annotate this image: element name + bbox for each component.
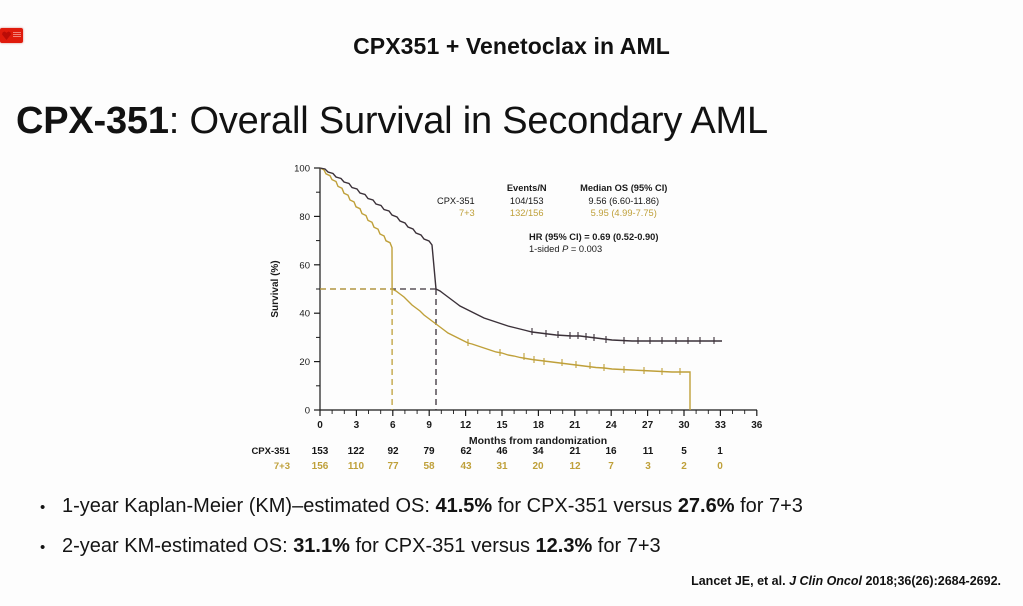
bullet-text-1: 1-year Kaplan-Meier (KM)–estimated OS: 4… <box>62 494 803 518</box>
risk-cell: 58 <box>417 461 441 472</box>
citation-journal: J Clin Oncol <box>789 574 862 588</box>
svg-text:15: 15 <box>496 420 508 431</box>
risk-cell: 5 <box>672 446 696 457</box>
p-value-number: = 0.003 <box>568 244 602 254</box>
bullet-2-pre: 2-year KM-estimated OS: <box>62 535 293 557</box>
risk-cell: 1 <box>708 446 732 457</box>
bullet-1-value-cpx: 41.5% <box>435 495 492 517</box>
page-title-rest: : Overall Survival in Secondary AML <box>169 100 768 142</box>
legend-header-median: Median OS (95% CI) <box>565 182 683 195</box>
risk-cell: 43 <box>454 461 478 472</box>
legend-stats: HR (95% CI) = 0.69 (0.52-0.90) 1-sided P… <box>529 231 737 255</box>
svg-text:80: 80 <box>299 212 310 223</box>
bullet-item-1: • 1-year Kaplan-Meier (KM)–estimated OS:… <box>40 494 990 518</box>
hazard-ratio-text: HR (95% CI) = 0.69 (0.52-0.90) <box>529 232 658 242</box>
risk-cell: 7 <box>599 461 623 472</box>
risk-cell: 110 <box>344 461 368 472</box>
svg-text:3: 3 <box>354 420 360 431</box>
svg-text:60: 60 <box>299 260 310 271</box>
svg-text:100: 100 <box>294 164 310 175</box>
legend-row-seven-three: 7+3 132/156 5.95 (4.99-7.75) <box>437 207 683 219</box>
risk-cell: 0 <box>708 461 732 472</box>
censor-marks-seven-three <box>468 339 680 375</box>
svg-text:9: 9 <box>426 420 432 431</box>
bullet-1-post: for 7+3 <box>735 495 803 517</box>
risk-cell: 34 <box>526 446 550 457</box>
legend-header-events: Events/N <box>489 182 565 195</box>
deck-header-title: CPX351 + Venetoclax in AML <box>0 33 1023 60</box>
svg-text:30: 30 <box>678 420 690 431</box>
y-axis-tick-labels: 0 20 40 60 80 100 <box>294 164 310 417</box>
x-axis-major-ticks <box>320 410 757 416</box>
svg-text:24: 24 <box>606 420 618 431</box>
risk-cell: 156 <box>308 461 332 472</box>
svg-text:6: 6 <box>390 420 396 431</box>
risk-row-seven-three: 7+3 156 110 77 58 43 31 20 12 7 3 2 0 <box>232 461 772 476</box>
risk-cell: 21 <box>563 446 587 457</box>
numbers-at-risk-table: CPX-351 153 122 92 79 62 46 34 21 16 11 … <box>232 446 772 476</box>
bullet-1-pre: 1-year Kaplan-Meier (KM)–estimated OS: <box>62 495 435 517</box>
page-title: CPX-351: Overall Survival in Secondary A… <box>16 100 768 143</box>
risk-cell: 11 <box>636 446 660 457</box>
risk-row-cpx351: CPX-351 153 122 92 79 62 46 34 21 16 11 … <box>232 446 772 461</box>
bullet-2-post: for 7+3 <box>592 535 660 557</box>
risk-cell: 46 <box>490 446 514 457</box>
risk-cell: 3 <box>636 461 660 472</box>
legend-header-arm <box>437 182 489 195</box>
svg-text:21: 21 <box>569 420 581 431</box>
svg-text:27: 27 <box>642 420 654 431</box>
legend-arm-cpx351: CPX-351 <box>437 195 489 207</box>
y-axis-minor-ticks <box>316 192 320 386</box>
svg-text:0: 0 <box>305 406 310 417</box>
bullet-dot-icon: • <box>40 540 62 555</box>
svg-text:0: 0 <box>317 420 323 431</box>
kaplan-meier-figure: 0 20 40 60 80 100 Survival (%) <box>232 160 772 490</box>
risk-label-cpx351: CPX-351 <box>232 446 290 457</box>
risk-cell: 31 <box>490 461 514 472</box>
chart-legend: Events/N Median OS (95% CI) CPX-351 104/… <box>437 182 737 255</box>
bullet-list: • 1-year Kaplan-Meier (KM)–estimated OS:… <box>40 494 990 574</box>
legend-events-seven-three: 132/156 <box>489 207 565 219</box>
svg-text:40: 40 <box>299 309 310 320</box>
svg-text:20: 20 <box>299 357 310 368</box>
risk-cell: 122 <box>344 446 368 457</box>
svg-text:12: 12 <box>460 420 472 431</box>
risk-label-seven-three: 7+3 <box>232 461 290 472</box>
citation: Lancet JE, et al. J Clin Oncol 2018;36(2… <box>691 574 1001 588</box>
svg-text:33: 33 <box>715 420 727 431</box>
slide-canvas: CPX351 + Venetoclax in AML CPX-351: Over… <box>0 0 1023 606</box>
legend-median-cpx351: 9.56 (6.60-11.86) <box>565 195 683 207</box>
bullet-2-value-cpx: 31.1% <box>293 535 350 557</box>
bullet-1-value-73: 27.6% <box>678 495 735 517</box>
bullet-item-2: • 2-year KM-estimated OS: 31.1% for CPX-… <box>40 534 990 558</box>
citation-details: 2018;36(26):2684-2692. <box>862 574 1001 588</box>
x-axis-tick-labels: 036 91215 182124 273033 36 <box>317 420 763 431</box>
legend-arm-seven-three: 7+3 <box>437 207 489 219</box>
bullet-2-value-73: 12.3% <box>536 535 593 557</box>
bullet-2-mid: for CPX-351 versus <box>350 535 536 557</box>
risk-cell: 2 <box>672 461 696 472</box>
p-value-prefix: 1-sided <box>529 244 562 254</box>
legend-median-seven-three: 5.95 (4.99-7.75) <box>565 207 683 219</box>
risk-cell: 92 <box>381 446 405 457</box>
bullet-1-mid: for CPX-351 versus <box>492 495 678 517</box>
risk-cell: 16 <box>599 446 623 457</box>
risk-cell: 62 <box>454 446 478 457</box>
legend-events-cpx351: 104/153 <box>489 195 565 207</box>
citation-authors: Lancet JE, et al. <box>691 574 789 588</box>
page-title-bold: CPX-351 <box>16 100 169 142</box>
risk-cell: 20 <box>526 461 550 472</box>
svg-text:36: 36 <box>751 420 763 431</box>
risk-cell: 153 <box>308 446 332 457</box>
risk-cell: 79 <box>417 446 441 457</box>
y-axis-title: Survival (%) <box>270 260 281 317</box>
risk-cell: 12 <box>563 461 587 472</box>
bullet-dot-icon: • <box>40 500 62 515</box>
risk-cell: 77 <box>381 461 405 472</box>
bullet-text-2: 2-year KM-estimated OS: 31.1% for CPX-35… <box>62 534 661 558</box>
svg-text:18: 18 <box>533 420 545 431</box>
legend-row-cpx351: CPX-351 104/153 9.56 (6.60-11.86) <box>437 195 683 207</box>
